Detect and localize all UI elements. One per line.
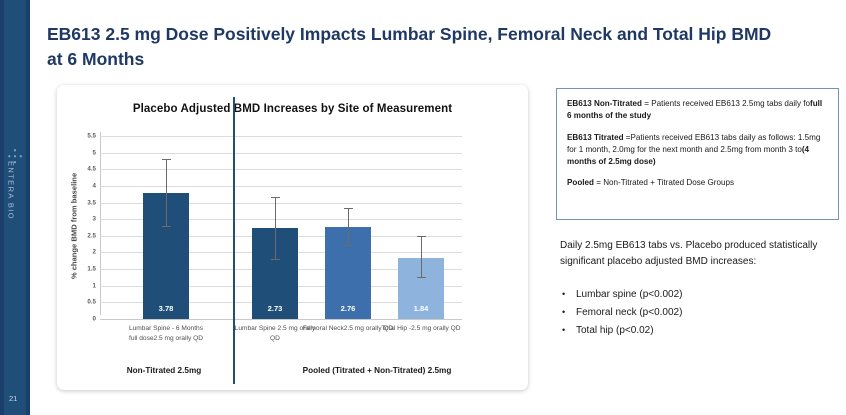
brand-name-vertical: ENTERA BIO: [7, 151, 16, 231]
bar-value-label: 2.76: [325, 304, 371, 313]
x-axis-baseline: [100, 319, 462, 320]
summary-bullet-text: Femoral neck (p<0.002): [576, 304, 682, 322]
gridline: [100, 136, 462, 137]
definition-term: EB613 Titrated: [567, 133, 624, 142]
gridline: [100, 153, 462, 154]
error-bar-cap-lower: [344, 245, 353, 246]
y-axis-tick-label: 2: [56, 249, 96, 256]
summary-bullet-text: Total hip (p<0.02): [576, 322, 654, 340]
definition-body: = Non-Titrated + Titrated Dose Groups: [594, 178, 734, 187]
y-axis-tick-label: 4: [56, 182, 96, 189]
chart-card: Placebo Adjusted BMD Increases by Site o…: [57, 85, 528, 390]
summary-bullet-0: •Lumbar spine (p<0.002): [560, 286, 845, 304]
y-axis-line: [100, 132, 101, 315]
definition-term: EB613 Non-Titrated: [567, 99, 642, 108]
chart-title: Placebo Adjusted BMD Increases by Site o…: [57, 103, 528, 115]
bullet-dot-icon: •: [560, 322, 576, 338]
bullet-dot-icon: •: [560, 286, 576, 302]
y-axis-tick-label: 3: [56, 216, 96, 223]
gridline: [100, 169, 462, 170]
y-axis-tick-label: 0.5: [56, 299, 96, 306]
error-bar-cap-upper: [162, 159, 171, 160]
error-bar-stem: [348, 209, 349, 246]
definitions-list: EB613 Non-Titrated = Patients received E…: [567, 98, 828, 190]
bar-value-label: 1.84: [398, 304, 444, 313]
y-axis-tick-label: 1: [56, 282, 96, 289]
error-bar-cap-lower: [271, 259, 280, 260]
y-axis-title: % change BMD from baseline: [70, 156, 79, 296]
summary-bullet-text: Lumbar spine (p<0.002): [576, 286, 682, 304]
bullet-dot-icon: •: [560, 304, 576, 320]
gridline: [100, 186, 462, 187]
error-bar-cap-upper: [344, 208, 353, 209]
definition-term: Pooled: [567, 178, 594, 187]
chart-plot-area: % change BMD from baseline 00.511.522.53…: [100, 132, 462, 320]
category-label-3: Total Hip -2.5 mg orally QD: [375, 324, 467, 334]
group-label-0: Non-Titrated 2.5mg: [96, 366, 232, 375]
bar-value-label: 2.73: [252, 304, 298, 313]
y-axis-tick-label: 2.5: [56, 232, 96, 239]
definition-body: = Patients received EB613 2.5mg tabs dai…: [642, 99, 810, 108]
error-bar-stem: [421, 237, 422, 278]
page-number: 21: [9, 394, 17, 403]
y-axis-tick-label: 1.5: [56, 266, 96, 273]
definition-item-0: EB613 Non-Titrated = Patients received E…: [567, 98, 828, 123]
y-axis-tick-label: 5: [56, 149, 96, 156]
y-axis-tick-label: 3.5: [56, 199, 96, 206]
definition-item-2: Pooled = Non-Titrated + Titrated Dose Gr…: [567, 177, 828, 189]
summary-bullet-list: •Lumbar spine (p<0.002)•Femoral neck (p<…: [560, 286, 845, 339]
error-bar-stem: [275, 198, 276, 260]
error-bar-cap-lower: [417, 277, 426, 278]
definition-item-1: EB613 Titrated =Patients received EB613 …: [567, 132, 828, 169]
error-bar-cap-lower: [162, 226, 171, 227]
brand-rail: ⸭ ENTERA BIO 21: [0, 0, 30, 415]
definitions-box: EB613 Non-Titrated = Patients received E…: [556, 88, 839, 220]
category-label-0: Lumbar Spine - 6 Months full dose2.5 mg …: [124, 324, 208, 344]
summary-block: Daily 2.5mg EB613 tabs vs. Placebo produ…: [560, 238, 845, 340]
error-bar-stem: [166, 160, 167, 227]
group-label-1: Pooled (Titrated + Non-Titrated) 2.5mg: [237, 366, 517, 375]
summary-bullet-1: •Femoral neck (p<0.002): [560, 304, 845, 322]
y-axis-tick-label: 5.5: [56, 133, 96, 140]
summary-lead-text: Daily 2.5mg EB613 tabs vs. Placebo produ…: [560, 238, 845, 270]
error-bar-cap-upper: [417, 236, 426, 237]
y-axis-tick-label: 4.5: [56, 166, 96, 173]
summary-bullet-2: •Total hip (p<0.02): [560, 322, 845, 340]
y-axis-tick-label: 0: [56, 316, 96, 323]
bar-value-label: 3.78: [143, 304, 189, 313]
error-bar-cap-upper: [271, 197, 280, 198]
slide-title: EB613 2.5 mg Dose Positively Impacts Lum…: [47, 22, 777, 72]
